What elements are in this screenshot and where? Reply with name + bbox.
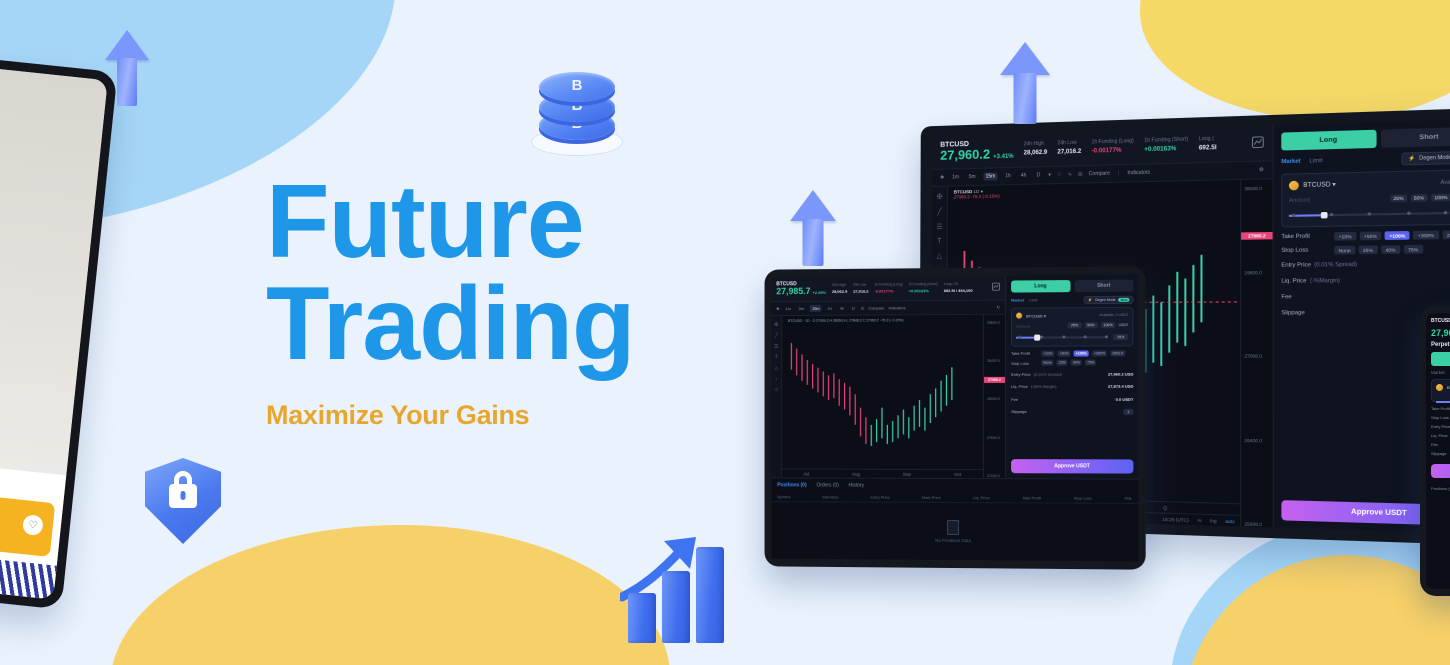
tp-100[interactable]: +100% [1074,350,1089,356]
tablet-long-short-tabs: Long Short [1011,280,1133,293]
bitcoin-icon [1289,181,1299,191]
fee-row: Fee [1281,291,1450,303]
price-tick: 27000.0 [1244,354,1272,359]
stat-value: 27,016.2 [853,288,868,293]
heart-icon: ♡ [22,514,44,536]
liq-price-hint: (-%Margin) [1310,278,1340,285]
sl-none[interactable]: None [1041,360,1053,366]
take-profit-options: +10% +50% +100% +300% 2902.5 [1041,350,1125,356]
phone-symbol: BTCUSD [1431,318,1450,324]
sl-25[interactable]: 25% [1358,245,1377,254]
timeframe-d[interactable]: D [1035,172,1043,180]
entry-price-row: Entry Price (0.01% Spread) [1281,258,1450,271]
fib-tool-icon[interactable]: ☰ [774,344,778,350]
monitor-stat: 1h Funding (Long) -0.00177% [1091,138,1133,156]
timeframe-5m[interactable]: 5m [967,173,978,181]
tablet-last-price: 27,985.7 [776,287,810,297]
pct-50[interactable]: 50% [1410,194,1427,202]
take-profit-label: Take Profit [1281,233,1334,240]
tablet-drawing-tools: ✠ ╱ ☰ T △ ↕ ☉ [771,316,782,477]
monitor-change: +3.41% [993,154,1014,161]
sl-75[interactable]: 75% [1404,245,1423,254]
available-balance: Available: 0 USDT [1099,313,1128,317]
tablet-entry-price-row: Entry Price (0.01% Spread) 27,960.2 USD [1011,369,1133,378]
slippage-label: Slippage [1011,409,1027,415]
time-tick: Q [1163,505,1167,510]
order-mode-row: Market Limit ⚡ Degen Mode Beta [1281,151,1450,169]
tab-positions[interactable]: Positions (0) [777,482,806,488]
tablet-order-panel: Long Short Market Limit ⚡ Degen Mode Bet… [1005,274,1139,478]
phone-tab-long[interactable]: Long [1431,352,1450,366]
empty-document-icon [947,520,959,535]
leverage-slider-knob[interactable] [1320,211,1327,217]
timeframe-1m[interactable]: 1m [783,305,792,312]
chart-timezone[interactable]: 16:25 (UTC) [1162,516,1188,522]
leverage-slider[interactable] [1289,208,1449,220]
pct-25[interactable]: 25% [1068,322,1081,328]
monitor-stat: 1h Funding (Short) +0.00163% [1144,137,1188,155]
page-title: Future Trading [266,172,736,376]
hero-headline-block: Future Trading Maximize Your Gains [266,172,736,431]
text-tool-icon[interactable]: T [937,238,941,245]
timeframe-15m[interactable]: 15m [810,305,822,312]
amount-input[interactable]: Amount [1016,323,1030,328]
measure-tool-icon[interactable]: ↕ [775,376,777,382]
degen-label: Degen Mode [1095,297,1115,301]
take-profit-label: Take Profit [1011,351,1041,356]
growth-bar-1 [628,593,656,643]
amount-input-row[interactable]: Amount 25% 50% 100% USDT [1289,193,1450,204]
leverage-row: 2x [1289,207,1450,220]
tablet-screen: BTCUSD 27,985.7 +2.39% 24h High 28,062.9… [771,274,1138,561]
trendline-tool-icon[interactable]: ╱ [775,333,778,339]
tp-50[interactable]: +50% [1057,350,1070,356]
phone-positions-label: Positions (0) [1431,486,1450,491]
liq-price-label: Liq. Price [1011,384,1028,389]
text-tool-icon[interactable]: T [775,355,778,361]
tp-100[interactable]: +100% [1385,231,1410,240]
fib-tool-icon[interactable]: ☰ [936,223,942,231]
chevron-down-icon[interactable]: ▾ [1330,181,1335,189]
bitcoin-coin-stack: B B B [531,62,623,158]
fee-value: 0.0 USDT [1116,396,1134,401]
phone-row: Liq. Price [1431,433,1450,438]
sl-none[interactable]: None [1334,246,1355,255]
price-tick: 27600.0 [987,436,1005,440]
tablet-leverage-row: 25.5 [1016,332,1128,342]
left-tablet-screen: Vouchers ♡ [0,60,108,599]
compare-icon[interactable]: ◎ [861,305,864,310]
empty-state-text: No Positions Data [935,538,971,543]
compare-button[interactable]: Compare [1089,171,1110,178]
phone-asset-row[interactable]: BTCUSD [1436,384,1450,391]
column-header: PNL [1124,496,1132,501]
stat-value: 692.5I / 494,100 [944,287,973,292]
cursor-tool-icon[interactable]: ✠ [774,322,778,328]
tablet-symbol-block[interactable]: BTCUSD 27,985.7 +2.39% [776,281,826,297]
sl-75[interactable]: 75% [1085,360,1096,366]
phone-section-title: Perpetual [1431,342,1450,348]
coin-top: B [539,72,615,102]
long-short-tabs: Long Short [1281,127,1450,151]
amount-card: BTCUSD ▾ Available: 0 Amount 25% 50% 100… [1281,169,1450,228]
price-tick: 29800.0 [1244,270,1272,276]
positions-empty-state: No Positions Data [771,502,1138,561]
degen-icon: ⚡ [1409,155,1416,162]
slippage-value[interactable]: 1 [1123,409,1133,415]
degen-icon: ⚡ [1088,298,1092,302]
candle-type-icon[interactable]: ♢ [1057,172,1062,178]
tablet-stat: 1h Funding (Short) +0.00163% [909,282,938,293]
tablet-chart-column: BTCUSD 27,985.7 +2.39% 24h High 28,062.9… [771,276,1005,479]
phone-mode-market[interactable]: Market [1431,370,1450,375]
chart-auto-toggle[interactable]: auto [1225,518,1234,524]
degen-badge: Beta [1119,297,1130,301]
chevron-down-icon[interactable]: ▾ [1048,172,1051,178]
background-blob-bottom-right-yellow [1180,555,1450,665]
timeframe-4h[interactable]: 4h [838,305,846,312]
magnet-tool-icon[interactable]: ☉ [774,387,778,393]
tablet-candlestick-plot[interactable] [782,325,983,469]
pct-100[interactable]: 100% [1431,194,1450,202]
mode-limit[interactable]: Limit [1309,158,1322,165]
phone-row: Entry Price [1431,424,1450,429]
background-blob-bottom-left [110,525,670,665]
up-arrow-icon-2 [790,190,836,266]
phone-amount-card: BTCUSD [1431,379,1450,402]
settings-icon[interactable]: ⚙ [1259,167,1264,173]
tablet-stat: 24h High 28,062.9 [832,283,847,294]
amount-input[interactable]: Amount [1289,197,1310,204]
slippage-label: Slippage [1281,310,1305,316]
column-header: Liq. Price [973,495,990,500]
tab-orders[interactable]: Orders (0) [816,482,838,488]
column-header: Mark Price [922,495,941,500]
hero-subtitle: Maximize Your Gains [266,400,736,431]
monitor-stat: 24h High 28,062.9 [1024,141,1048,158]
leverage-slider-knob[interactable] [1034,334,1040,340]
stat-label: Long ( [1199,136,1217,144]
tab-short[interactable]: Short [1074,280,1133,293]
price-tick: 28400.0 [987,359,1005,363]
column-header: Take Profit [1022,495,1041,500]
leverage-value[interactable]: 25.5 [1113,334,1128,340]
asset-symbol: BTCUSD [1026,313,1043,318]
refresh-icon[interactable]: ↻ [997,305,1000,310]
phone-row: Stop Loss [1431,415,1450,420]
degen-mode-toggle[interactable]: ⚡ Degen Mode Beta [1084,295,1134,303]
tablet-take-profit-row: Take Profit +10% +50% +100% +300% 2902.5 [1011,350,1133,357]
tablet-stop-loss-row: Stop Loss None 25% 40% 75% [1011,359,1133,365]
stop-loss-row: Stop Loss None 25% 40% 75% [1281,244,1450,255]
tablet-device: BTCUSD 27,985.7 +2.39% 24h High 28,062.9… [765,266,1146,569]
stat-label: 24h Low [1057,140,1081,148]
indicators-button[interactable]: Indicators [888,305,905,310]
headline-line-2: Trading [266,266,635,382]
up-arrow-icon-1 [105,30,149,106]
tablet-main-area: BTCUSD 27,985.7 +2.39% 24h High 28,062.9… [771,274,1138,478]
tab-short[interactable]: Short [1380,127,1450,148]
stat-label: 1h Funding (Long) [1092,138,1134,147]
chart-toggle-icon[interactable] [1252,136,1264,150]
time-tick: Sep [903,471,911,476]
pct-100[interactable]: 100% [1100,322,1115,328]
stat-value: -0.00177% [874,288,893,293]
tp-300[interactable]: +300% [1092,350,1107,356]
left-tablet-device: Vouchers ♡ [0,51,118,610]
chart-log-toggle[interactable]: log [1210,518,1216,523]
shape-tool-icon[interactable]: △ [774,365,778,371]
line-type-icon[interactable]: ∿ [1068,172,1072,178]
stop-loss-options: None 25% 40% 75% [1334,245,1423,255]
phone-approve-button[interactable]: Approve USDT [1431,464,1450,478]
tablet-ticker-bar: BTCUSD 27,985.7 +2.39% 24h High 28,062.9… [771,276,1005,303]
asset-symbol: BTCUSD [1303,182,1330,189]
current-price-tag: 27960.2 [1241,232,1272,240]
leverage-slider[interactable] [1016,332,1108,341]
stat-value: +0.00163% [909,288,929,293]
fee-label: Fee [1281,294,1291,300]
compare-icon[interactable]: ◎ [1078,172,1082,178]
stat-value: 28,062.9 [832,288,847,293]
chevron-down-icon[interactable]: ▾ [1043,313,1046,318]
tablet-stat: 1h Funding (Long) -0.00177% [874,283,902,294]
approve-usdt-button[interactable]: Approve USDT [1011,459,1133,473]
mode-limit[interactable]: Limit [1029,297,1038,302]
phone-price: 27,960.2 [1431,328,1450,338]
phone-row: Take Profit [1431,406,1450,411]
monitor-stat: Long ( 692.5I [1199,136,1217,154]
degen-label: Degen Mode [1419,155,1450,162]
time-tick: Oct [954,472,961,477]
phone-row: Slippage [1431,451,1450,456]
tablet-asset-row[interactable]: BTCUSD ▾ Available: 0 USDT [1016,312,1128,319]
monitor-price-axis: 38000.0 29800.0 27000.0 26400.0 25900.0 … [1240,180,1273,528]
tab-long[interactable]: Long [1011,280,1070,293]
phone-device: BTCUSD 27,960.2 Perpetual Long Market BT… [1420,306,1450,596]
tablet-price-axis: 28800.0 28400.0 28000.0 27600.0 27200.0 … [983,315,1005,479]
tp-300[interactable]: +300% [1413,231,1438,240]
price-tick: 28000.0 [987,397,1005,401]
crosshair-icon[interactable]: ✚ [776,306,779,311]
column-header: Side/Size [822,494,839,499]
tablet-amount-card: BTCUSD ▾ Available: 0 USDT Amount 25% 50… [1011,307,1133,347]
tp-10[interactable]: +10% [1334,232,1356,241]
column-header: Stop Loss [1074,496,1092,501]
tablet-candlestick-svg [782,325,983,469]
tp-50[interactable]: +50% [1359,231,1381,240]
left-tablet-promo-tile[interactable]: ♡ [0,485,55,557]
tab-history[interactable]: History [849,483,864,489]
price-tick: 26400.0 [1244,437,1272,443]
stat-value: +0.00163% [1144,146,1176,153]
column-header: Entry Price [870,495,889,500]
chart-percent-toggle[interactable]: % [1197,517,1201,522]
percent-shortcuts: 25% 50% 100% [1068,322,1116,328]
tablet-amount-input-row[interactable]: Amount 25% 50% 100% USDT [1016,322,1128,329]
tp-value[interactable]: 2902 [1442,230,1450,239]
hero-banner: Vouchers ♡ BTCUSD 27,960.2 [0,0,1450,665]
available-balance: Available: 0 [1440,178,1450,185]
headline-line-1: Future [266,164,584,280]
liq-price-hint: (-50% Margin) [1031,384,1057,389]
cursor-tool-icon[interactable]: ✠ [937,193,943,201]
stat-value: 27,016.2 [1057,149,1081,156]
fee-label: Fee [1011,396,1018,401]
pct-50[interactable]: 50% [1084,322,1097,328]
stat-value: -0.00177% [1091,148,1121,155]
pct-25[interactable]: 25% [1390,194,1407,202]
tablet-chart-toolbar: ✚ 1m 5m 15m 1h 4h D ◎ Compare Indicators… [771,301,1005,316]
background-blob-top-right [1140,0,1450,120]
sl-25[interactable]: 25% [1057,360,1068,366]
monitor-symbol-block[interactable]: BTCUSD 27,960.2 +3.41% [940,140,1014,163]
phone-row: Fee [1431,442,1450,447]
stat-value: 692.5I [1199,145,1217,152]
entry-price-value: 27,960.2 USD [1108,371,1134,376]
monitor-last-price: 27,960.2 [940,147,990,163]
bitcoin-icon [1016,313,1022,319]
liq-price-value: 27,873.4 USD [1108,384,1134,389]
tablet-liq-price-row: Liq. Price (-50% Margin) 27,873.4 USD [1011,382,1133,391]
stat-label: 24h High [1024,141,1048,149]
timeframe-4h[interactable]: 4h [1019,172,1029,180]
tablet-positions-section: Positions (0) Orders (0) History Symbol … [771,477,1138,561]
tp-value[interactable]: 2902.5 [1110,350,1125,356]
tablet-change: +2.39% [813,290,826,295]
percent-shortcuts: 25% 50% 100% [1390,194,1450,203]
price-tick: 27200.0 [987,474,1005,478]
stat-value: 28,062.9 [1024,150,1048,157]
tablet-order-mode-row: Market Limit ⚡ Degen Mode Beta [1011,295,1133,304]
price-tick: 25900.0 [1244,521,1272,527]
stat-label: 1h Funding (Short) [1144,137,1188,146]
tablet-fee-row: Fee 0.0 USDT [1011,394,1133,403]
tablet-stat: 24h Low 27,016.2 [853,283,868,294]
compare-button[interactable]: Compare [868,305,884,310]
tab-long[interactable]: Long [1281,130,1376,151]
tablet-stat: Long / OI 692.5I / 494,100 [944,282,973,293]
tablet-plot-wrapper: BTCUSD · 1D · O 27939.2 H 28060.4 L 2784… [782,315,983,478]
shape-tool-icon[interactable]: △ [937,252,942,260]
mode-market[interactable]: Market [1281,158,1300,165]
liq-price-label: Liq. Price [1281,278,1306,285]
tablet-slippage-row: Slippage 1 [1011,407,1133,417]
timeframe-5m[interactable]: 5m [797,305,806,312]
timeframe-1h[interactable]: 1h [1003,172,1013,180]
up-arrow-icon-3 [1000,42,1050,124]
price-tick: 28800.0 [987,321,1005,325]
tablet-current-price-tag: 27960.2 [984,377,1005,383]
indicators-icon[interactable]: ⋮ [1116,171,1121,177]
time-tick: Jul [803,471,809,476]
tp-10[interactable]: +10% [1041,350,1054,356]
left-tablet-hero-image [0,60,108,475]
timeframe-1h[interactable]: 1h [826,305,834,312]
bitcoin-icon [1436,384,1443,391]
entry-price-label: Entry Price [1011,371,1031,376]
mode-market[interactable]: Market [1011,298,1024,303]
security-shield-lock-icon [145,458,221,544]
take-profit-row: Take Profit +10% +50% +100% +300% 2902 [1281,230,1450,241]
stop-loss-options: None 25% 40% 75% [1041,360,1096,366]
trendline-tool-icon[interactable]: ╱ [937,208,941,216]
growth-bar-3 [696,547,724,643]
timeframe-1m[interactable]: 1m [950,174,961,182]
currency-selector[interactable]: USDT [1119,323,1129,327]
crosshair-icon[interactable]: ✚ [940,175,944,181]
take-profit-options: +10% +50% +100% +300% 2902 [1334,230,1450,240]
liq-price-row: Liq. Price (-%Margin) [1281,275,1450,287]
phone-screen: BTCUSD 27,960.2 Perpetual Long Market BT… [1426,313,1450,589]
tablet-chart-body: ✠ ╱ ☰ T △ ↕ ☉ BTCUSD · 1D · O 27939.2 H … [771,315,1005,479]
entry-price-hint: (0.01% Spread) [1034,371,1062,376]
indicators-button[interactable]: Indicators [1128,170,1151,177]
stop-loss-label: Stop Loss [1281,247,1334,254]
entry-price-label: Entry Price [1281,262,1311,269]
coin-symbol: B [539,77,615,94]
growth-bar-2 [662,571,690,643]
lock-keyhole [181,491,186,500]
column-header: Symbol [777,494,790,499]
monitor-stat: 24h Low 27,016.2 [1057,140,1081,158]
tablet-chart-toggle-icon[interactable] [992,283,1000,292]
degen-mode-toggle[interactable]: ⚡ Degen Mode Beta [1402,151,1450,166]
sl-40[interactable]: 40% [1381,245,1400,254]
time-tick: Aug [852,471,860,476]
timeframe-d[interactable]: D [850,305,857,312]
entry-price-hint: (0.01% Spread) [1314,262,1357,269]
stop-loss-label: Stop Loss [1011,360,1041,365]
price-tick: 38000.0 [1244,186,1272,192]
timeframe-15m[interactable]: 15m [984,173,998,181]
asset-row[interactable]: BTCUSD ▾ Available: 0 [1289,177,1450,191]
growth-chart-icon [626,533,728,643]
sl-40[interactable]: 40% [1071,360,1082,366]
